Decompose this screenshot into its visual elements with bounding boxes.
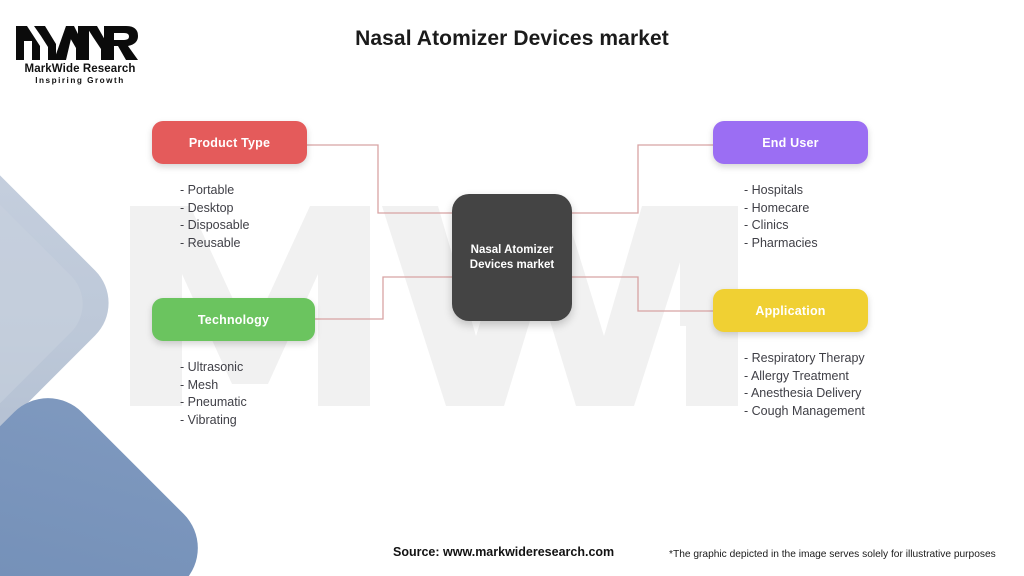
list-item: - Pharmacies xyxy=(744,235,868,253)
list-item: - Reusable xyxy=(180,235,307,253)
center-node[interactable]: Nasal Atomizer Devices market xyxy=(452,194,572,321)
list-item: - Clinics xyxy=(744,217,868,235)
list-item: - Cough Management xyxy=(744,403,868,421)
connector-product-type xyxy=(307,145,452,213)
connector-application xyxy=(572,277,713,311)
branch-end-user: End User - Hospitals - Homecare - Clinic… xyxy=(713,121,868,252)
branch-items-end-user: - Hospitals - Homecare - Clinics - Pharm… xyxy=(713,182,868,252)
list-item: - Respiratory Therapy xyxy=(744,350,868,368)
center-node-label: Nasal Atomizer Devices market xyxy=(462,243,562,273)
branch-items-product-type: - Portable - Desktop - Disposable - Reus… xyxy=(152,182,307,252)
connector-technology xyxy=(315,277,452,319)
footer-source: Source: www.markwideresearch.com xyxy=(393,545,614,559)
list-item: - Allergy Treatment xyxy=(744,368,868,386)
branch-items-technology: - Ultrasonic - Mesh - Pneumatic - Vibrat… xyxy=(152,359,315,429)
center-node-line-2: Devices market xyxy=(470,259,554,271)
list-item: - Pneumatic xyxy=(180,394,315,412)
list-item: - Vibrating xyxy=(180,412,315,430)
branch-header-application[interactable]: Application xyxy=(713,289,868,332)
center-node-line-1: Nasal Atomizer xyxy=(471,244,554,256)
list-item: - Homecare xyxy=(744,200,868,218)
list-item: - Hospitals xyxy=(744,182,868,200)
list-item: - Ultrasonic xyxy=(180,359,315,377)
branch-application: Application - Respiratory Therapy - Alle… xyxy=(713,289,868,420)
branch-header-end-user[interactable]: End User xyxy=(713,121,868,164)
infographic-canvas: MarkWide Research Inspiring Growth Nasal… xyxy=(0,0,1024,576)
branch-header-product-type[interactable]: Product Type xyxy=(152,121,307,164)
connector-end-user xyxy=(572,145,713,213)
list-item: - Anesthesia Delivery xyxy=(744,385,868,403)
list-item: - Portable xyxy=(180,182,307,200)
branch-items-application: - Respiratory Therapy - Allergy Treatmen… xyxy=(713,350,868,420)
branch-technology: Technology - Ultrasonic - Mesh - Pneumat… xyxy=(152,298,315,429)
list-item: - Disposable xyxy=(180,217,307,235)
footer-disclaimer: *The graphic depicted in the image serve… xyxy=(669,549,996,560)
branch-product-type: Product Type - Portable - Desktop - Disp… xyxy=(152,121,307,252)
list-item: - Mesh xyxy=(180,377,315,395)
branch-header-technology[interactable]: Technology xyxy=(152,298,315,341)
list-item: - Desktop xyxy=(180,200,307,218)
